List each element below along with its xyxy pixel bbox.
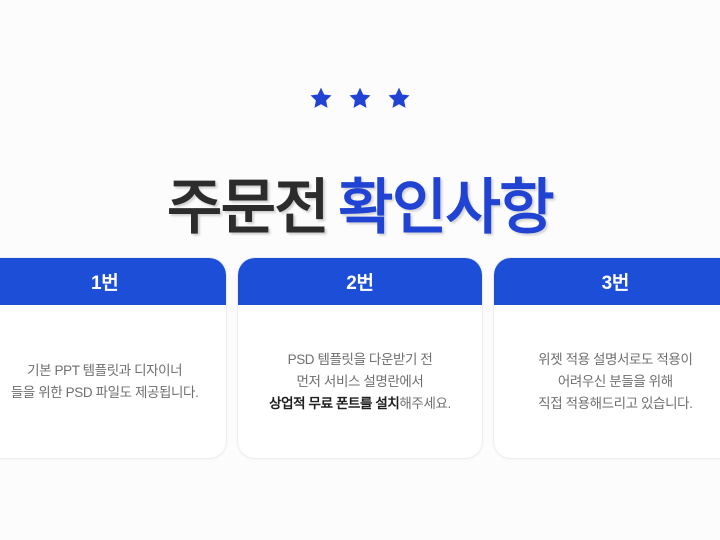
notice-card-2-body: PSD 템플릿을 다운받기 전 먼저 서비스 설명란에서 상업적 무료 폰트를 … xyxy=(238,305,481,458)
notice-card-1: 1번 기본 PPT 템플릿과 디자이너 들을 위한 PSD 파일도 제공됩니다. xyxy=(0,257,227,459)
notice-card-2-line-3: 상업적 무료 폰트를 설치해주세요. xyxy=(269,393,451,415)
notice-card-1-line-2: 들을 위한 PSD 파일도 제공됩니다. xyxy=(11,382,199,404)
notice-card-list: 1번 기본 PPT 템플릿과 디자이너 들을 위한 PSD 파일도 제공됩니다.… xyxy=(0,257,720,459)
notice-card-1-text: 기본 PPT 템플릿과 디자이너 들을 위한 PSD 파일도 제공됩니다. xyxy=(11,360,199,404)
notice-card-2: 2번 PSD 템플릿을 다운받기 전 먼저 서비스 설명란에서 상업적 무료 폰… xyxy=(237,257,482,459)
notice-card-2-line-1: PSD 템플릿을 다운받기 전 xyxy=(269,349,451,371)
notice-card-2-header: 2번 xyxy=(238,258,481,305)
star-icon xyxy=(387,86,411,110)
notice-card-3-line-3: 직접 적용해드리고 있습니다. xyxy=(538,393,692,415)
star-icon xyxy=(309,86,333,110)
page-title-part-blue: 확인사항 xyxy=(338,174,553,241)
star-icon xyxy=(348,86,372,110)
page-title: 주문전확인사항 xyxy=(0,173,720,243)
notice-card-3-text: 위젯 적용 설명서로도 적용이 어려우신 분들을 위해 직접 적용해드리고 있습… xyxy=(538,349,692,415)
page-title-part-dark: 주문전 xyxy=(167,174,328,241)
notice-card-3-header: 3번 xyxy=(494,258,720,305)
notice-card-1-line-1: 기본 PPT 템플릿과 디자이너 xyxy=(11,360,199,382)
notice-card-3-line-1: 위젯 적용 설명서로도 적용이 xyxy=(538,349,692,371)
notice-card-3: 3번 위젯 적용 설명서로도 적용이 어려우신 분들을 위해 직접 적용해드리고… xyxy=(493,257,720,459)
notice-card-2-text: PSD 템플릿을 다운받기 전 먼저 서비스 설명란에서 상업적 무료 폰트를 … xyxy=(269,349,451,415)
star-rating-decoration xyxy=(0,86,720,110)
notice-card-1-header: 1번 xyxy=(0,258,226,305)
notice-card-3-line-2: 어려우신 분들을 위해 xyxy=(538,371,692,393)
notice-card-1-body: 기본 PPT 템플릿과 디자이너 들을 위한 PSD 파일도 제공됩니다. xyxy=(0,305,226,458)
notice-card-2-emphasis: 상업적 무료 폰트를 설치 xyxy=(269,396,399,411)
notice-card-2-line-3-tail: 해주세요. xyxy=(399,396,450,411)
notice-page: 주문전확인사항 1번 기본 PPT 템플릿과 디자이너 들을 위한 PSD 파일… xyxy=(0,0,720,540)
notice-card-3-body: 위젯 적용 설명서로도 적용이 어려우신 분들을 위해 직접 적용해드리고 있습… xyxy=(494,305,720,458)
notice-card-2-line-2: 먼저 서비스 설명란에서 xyxy=(269,371,451,393)
